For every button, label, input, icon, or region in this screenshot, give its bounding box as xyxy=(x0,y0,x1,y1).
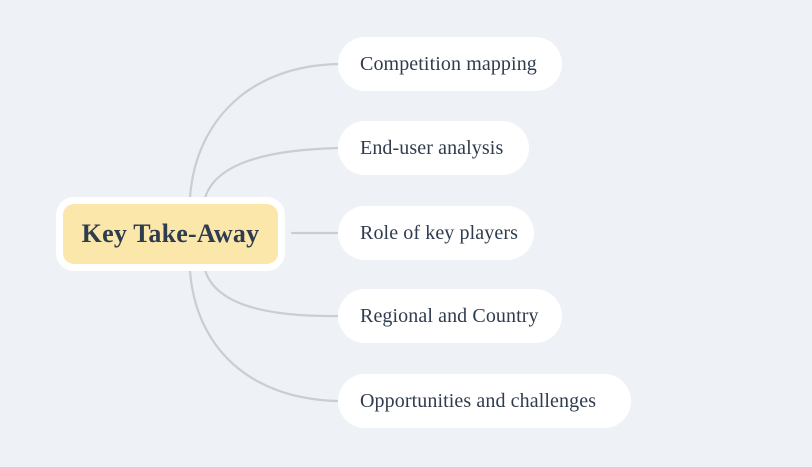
branch-node-label: End-user analysis xyxy=(360,137,503,160)
branch-node-competition-mapping[interactable]: Competition mapping xyxy=(338,37,562,91)
connector-line-4 xyxy=(205,270,338,316)
branch-node-label: Regional and Country xyxy=(360,305,539,328)
mind-map-canvas: Key Take-Away Competition mapping End-us… xyxy=(0,0,812,467)
root-node-label: Key Take-Away xyxy=(63,204,278,264)
connector-line-2 xyxy=(205,148,338,198)
branch-node-opportunities-and-challenges[interactable]: Opportunities and challenges xyxy=(338,374,631,428)
branch-node-label: Role of key players xyxy=(360,222,518,245)
connector-line-5 xyxy=(190,271,338,401)
root-node-key-take-away[interactable]: Key Take-Away xyxy=(56,197,285,271)
branch-node-regional-and-country[interactable]: Regional and Country xyxy=(338,289,562,343)
branch-node-label: Competition mapping xyxy=(360,53,537,76)
branch-node-role-of-key-players[interactable]: Role of key players xyxy=(338,206,534,260)
branch-node-label: Opportunities and challenges xyxy=(360,390,596,413)
connector-line-1 xyxy=(190,64,338,197)
branch-node-end-user-analysis[interactable]: End-user analysis xyxy=(338,121,529,175)
